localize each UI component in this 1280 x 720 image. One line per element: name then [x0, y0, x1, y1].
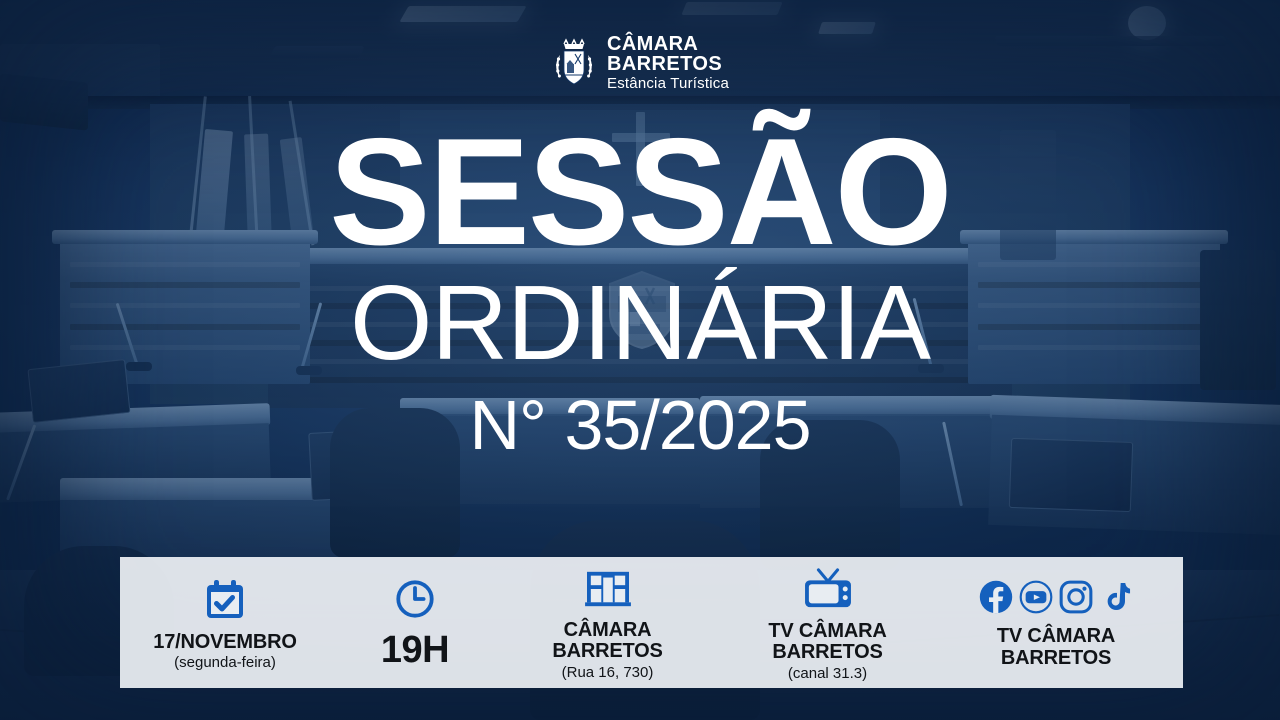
- info-cell-time: 19H: [330, 557, 500, 688]
- social-label-line1: TV CÂMARA: [997, 626, 1115, 648]
- brand-line-tagline: Estância Turística: [607, 76, 729, 91]
- info-cell-place: CÂMARA BARRETOS (Rua 16, 730): [500, 557, 715, 688]
- calendar-check-icon: [203, 578, 247, 627]
- social-icons-row: [978, 579, 1134, 620]
- info-cell-social: TV CÂMARA BARRETOS: [940, 557, 1172, 688]
- clock-icon: [394, 578, 436, 625]
- date-weekday: (segunda-feira): [174, 654, 276, 671]
- social-label-line2: BARRETOS: [1001, 648, 1111, 670]
- title-sessao: SESSÃO: [0, 120, 1280, 266]
- brand-line-camara: CÂMARA: [607, 34, 729, 54]
- main-title-block: SESSÃO ORDINÁRIA N° 35/2025: [0, 120, 1280, 464]
- place-address: (Rua 16, 730): [562, 664, 654, 681]
- place-label-line1: CÂMARA: [564, 620, 652, 642]
- brand-text-block: CÂMARA BARRETOS Estância Turística: [607, 34, 729, 91]
- tv-channel: (canal 31.3): [788, 665, 867, 682]
- time-label: 19H: [381, 630, 449, 670]
- poster-canvas: CÂMARA BARRETOS Estância Turística SESSÃ…: [0, 0, 1280, 720]
- brand-header: CÂMARA BARRETOS Estância Turística: [0, 34, 1280, 91]
- youtube-icon[interactable]: [1018, 579, 1054, 620]
- title-ordinaria: ORDINÁRIA: [0, 268, 1280, 379]
- tiktok-icon[interactable]: [1098, 579, 1134, 620]
- instagram-icon[interactable]: [1058, 579, 1094, 620]
- info-cell-date: 17/NOVEMBRO (segunda-feira): [120, 557, 330, 688]
- brand-line-barretos: BARRETOS: [607, 54, 729, 74]
- info-bar: 17/NOVEMBRO (segunda-feira) 19H: [120, 557, 1183, 688]
- coat-of-arms-crest-icon: [551, 37, 597, 89]
- building-icon: [583, 568, 633, 615]
- facebook-icon[interactable]: [978, 579, 1014, 620]
- title-session-number: N° 35/2025: [0, 387, 1280, 464]
- info-cell-tv: TV CÂMARA BARRETOS (canal 31.3): [715, 557, 940, 688]
- place-label-line2: BARRETOS: [552, 641, 662, 663]
- television-icon: [801, 567, 855, 616]
- tv-label-line1: TV CÂMARA: [768, 621, 886, 643]
- tv-label-line2: BARRETOS: [772, 642, 882, 664]
- date-label: 17/NOVEMBRO: [153, 632, 296, 653]
